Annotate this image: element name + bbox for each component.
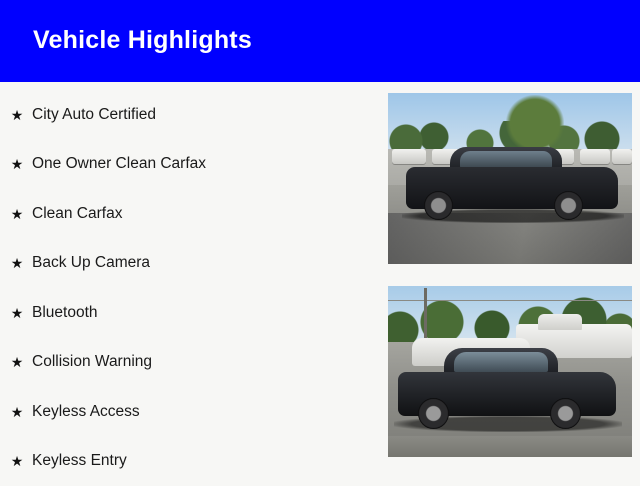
feature-label: City Auto Certified [26,106,156,124]
feature-label: Bluetooth [26,304,98,322]
tree [506,95,564,147]
feature-label: Keyless Access [26,403,140,421]
star-icon: ★ [8,108,26,122]
star-icon: ★ [8,454,26,468]
list-item: ★ City Auto Certified [0,90,380,140]
star-icon: ★ [8,256,26,270]
feature-label: Clean Carfax [26,205,122,223]
photo-gallery [388,93,632,457]
page-title: Vehicle Highlights [33,26,252,55]
star-icon: ★ [8,306,26,320]
car-windows [460,151,552,168]
vehicle-highlights-page: Vehicle Highlights ★ City Auto Certified… [0,0,640,480]
curb [388,436,632,457]
car-windows [454,352,548,372]
feature-label: Back Up Camera [26,254,150,272]
list-item: ★ Keyless Access [0,387,380,437]
star-icon: ★ [8,157,26,171]
car-wheel [554,191,583,220]
background-car [612,149,632,164]
list-item: ★ One Owner Clean Carfax [0,140,380,190]
car-wheel [418,398,449,429]
star-icon: ★ [8,207,26,221]
background-car [392,149,426,164]
list-item: ★ Back Up Camera [0,239,380,289]
feature-label: Collision Warning [26,353,152,371]
background-truck-cab [538,314,582,330]
list-item: ★ Clean Carfax [0,189,380,239]
star-icon: ★ [8,405,26,419]
vehicle-photo-front-quarter [388,286,632,457]
background-car [580,149,610,164]
feature-label: Keyless Entry [26,452,127,470]
vehicle-photo-side-profile [388,93,632,264]
feature-list: ★ City Auto Certified ★ One Owner Clean … [0,90,380,486]
list-item: ★ Collision Warning [0,338,380,388]
car-wheel [424,191,453,220]
utility-pole [424,288,427,344]
car-wheel [550,398,581,429]
header-bar: Vehicle Highlights [0,0,640,82]
star-icon: ★ [8,355,26,369]
list-item: ★ Bluetooth [0,288,380,338]
feature-label: One Owner Clean Carfax [26,155,206,173]
list-item: ★ Keyless Entry [0,437,380,486]
